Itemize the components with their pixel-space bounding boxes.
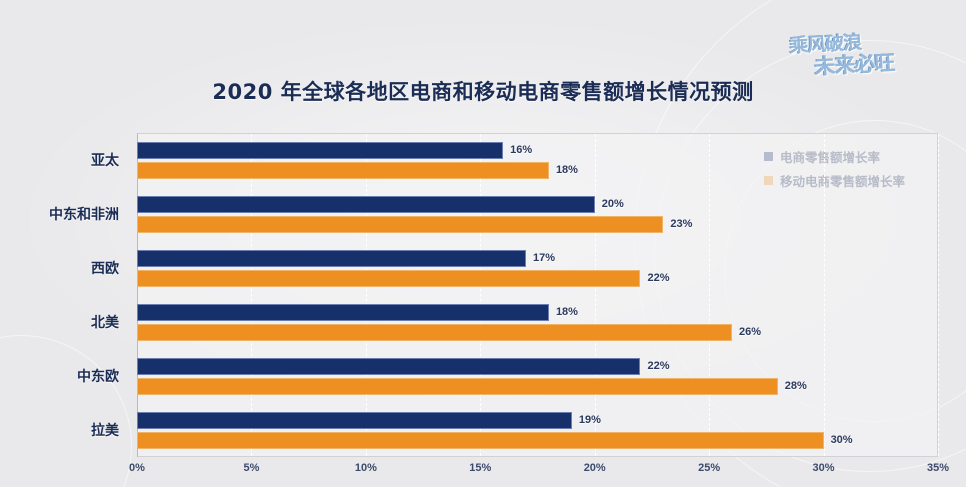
bar-value-label: 28% bbox=[785, 380, 807, 392]
bar-value-label: 23% bbox=[670, 218, 692, 230]
x-axis-tick-label: 25% bbox=[698, 462, 720, 474]
chart-category-group: 18%26% bbox=[137, 295, 938, 349]
chart-category-group: 20%23% bbox=[137, 187, 938, 241]
x-axis-tick-label: 10% bbox=[355, 462, 377, 474]
chart-bar[interactable] bbox=[137, 196, 595, 213]
x-axis-tick-label: 5% bbox=[243, 462, 259, 474]
y-axis-label: 中东和非洲 bbox=[49, 204, 119, 224]
watermark-line-2: 未来必旺 bbox=[814, 50, 955, 78]
chart-bar[interactable] bbox=[137, 162, 549, 179]
bar-value-label: 22% bbox=[647, 272, 669, 284]
gridline bbox=[938, 134, 939, 456]
bar-value-label: 17% bbox=[533, 252, 555, 264]
bar-value-label: 22% bbox=[647, 360, 669, 372]
chart-bar[interactable] bbox=[137, 412, 572, 429]
chart-plot-wrapper: 16%18%20%23%17%22%18%26%22%28%19%30% bbox=[137, 133, 938, 457]
y-axis-label: 西欧 bbox=[91, 258, 119, 278]
x-axis-tick-label: 20% bbox=[584, 462, 606, 474]
chart-bar[interactable] bbox=[137, 142, 503, 159]
chart-bar[interactable] bbox=[137, 432, 824, 449]
bar-value-label: 20% bbox=[602, 198, 624, 210]
bar-value-label: 18% bbox=[556, 306, 578, 318]
chart-title: 2020 年全球各地区电商和移动电商零售额增长情况预测 bbox=[0, 76, 966, 106]
chart-bar[interactable] bbox=[137, 270, 640, 287]
y-axis-label: 亚太 bbox=[91, 150, 119, 170]
bar-value-label: 18% bbox=[556, 164, 578, 176]
chart-bar[interactable] bbox=[137, 324, 732, 341]
x-axis-tick-labels: 0%5%10%15%20%25%30%35% bbox=[137, 462, 938, 480]
x-axis-tick-label: 35% bbox=[927, 462, 949, 474]
y-axis-category-labels: 亚太中东和非洲西欧北美中东欧拉美 bbox=[0, 133, 128, 457]
chart-category-group: 17%22% bbox=[137, 241, 938, 295]
chart-bar[interactable] bbox=[137, 250, 526, 267]
bar-value-label: 30% bbox=[831, 434, 853, 446]
x-axis-tick-label: 15% bbox=[469, 462, 491, 474]
chart-category-group: 19%30% bbox=[137, 403, 938, 457]
y-axis-label: 北美 bbox=[91, 312, 119, 332]
y-axis-label: 中东欧 bbox=[77, 366, 119, 386]
bar-value-label: 26% bbox=[739, 326, 761, 338]
y-axis-label: 拉美 bbox=[91, 420, 119, 440]
chart-bar[interactable] bbox=[137, 216, 663, 233]
chart-bar[interactable] bbox=[137, 358, 640, 375]
chart-category-group: 16%18% bbox=[137, 133, 938, 187]
chart-bar[interactable] bbox=[137, 304, 549, 321]
chart-category-group: 22%28% bbox=[137, 349, 938, 403]
chart-bar[interactable] bbox=[137, 378, 778, 395]
bar-value-label: 16% bbox=[510, 144, 532, 156]
x-axis-tick-label: 30% bbox=[813, 462, 835, 474]
bar-value-label: 19% bbox=[579, 414, 601, 426]
x-axis-tick-label: 0% bbox=[129, 462, 145, 474]
